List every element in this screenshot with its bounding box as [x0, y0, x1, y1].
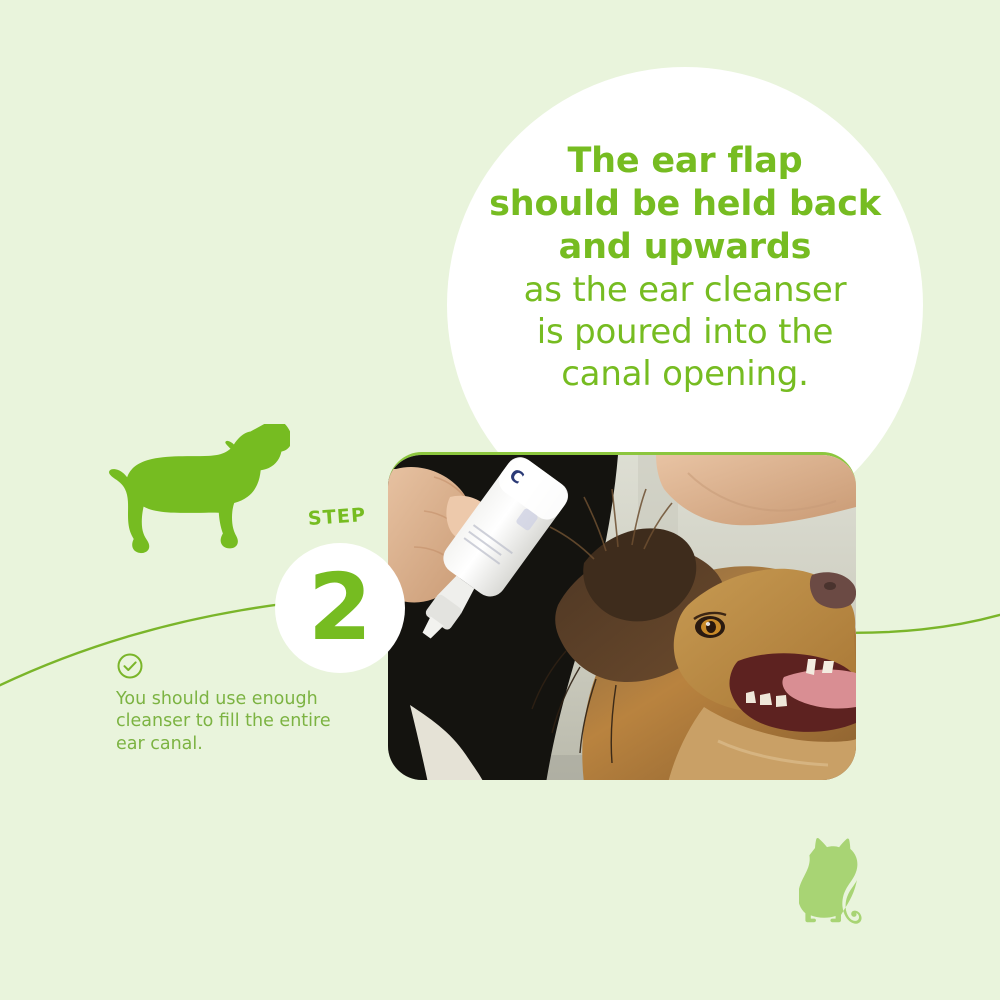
tip-text: You should use enough cleanser to fill t… [116, 688, 331, 755]
check-circle-icon [116, 652, 144, 680]
instruction-callout-text: The ear flap should be held back and upw… [455, 140, 915, 395]
callout-line-1: The ear flap [455, 140, 915, 183]
tip-line-2: cleanser to fill the entire [116, 710, 331, 732]
cat-silhouette-icon [799, 838, 877, 924]
tip-line-3: ear canal. [116, 733, 331, 755]
infographic-canvas: The ear flap should be held back and upw… [0, 0, 1000, 1000]
callout-line-4: as the ear cleanser [455, 269, 915, 311]
callout-line-3: and upwards [455, 226, 915, 269]
step-label: STEP [307, 504, 367, 530]
dog-silhouette-icon [100, 424, 290, 572]
step-number: 2 [275, 543, 405, 673]
callout-line-5: is poured into the [455, 311, 915, 353]
tip-line-1: You should use enough [116, 688, 331, 710]
callout-line-6: canal opening. [455, 353, 915, 395]
ear-cleaning-photo: C [388, 452, 856, 780]
callout-line-2: should be held back [455, 183, 915, 226]
